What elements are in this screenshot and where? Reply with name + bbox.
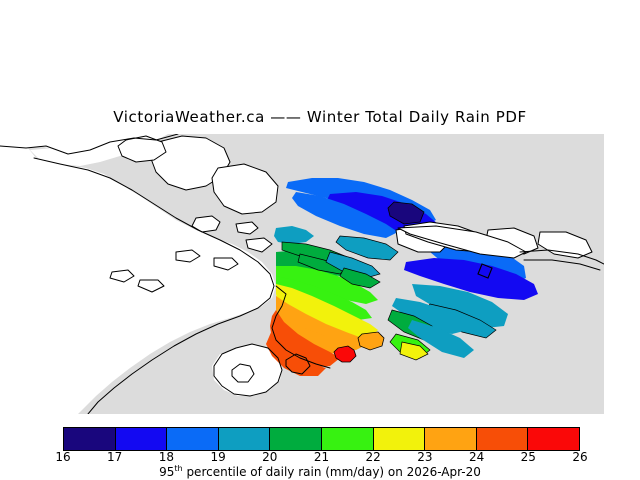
rainfall-contour-map	[0, 134, 604, 414]
colorbar-cell-20-21[interactable]	[270, 428, 322, 450]
colorbar-tick-24: 24	[469, 450, 484, 464]
colorbar-tick-16: 16	[55, 450, 70, 464]
colorbar-cell-25-26[interactable]	[528, 428, 579, 450]
page-title: VictoriaWeather.ca —— Winter Total Daily…	[0, 108, 640, 126]
map-panel	[0, 134, 604, 414]
colorbar-tick-19: 19	[210, 450, 225, 464]
colorbar-tick-18: 18	[159, 450, 174, 464]
colorbar-cell-21-22[interactable]	[322, 428, 374, 450]
colorbar-tick-17: 17	[107, 450, 122, 464]
colorbar-tick-labels: 1617181920212223242526	[0, 450, 640, 466]
colorbar-cell-23-24[interactable]	[425, 428, 477, 450]
colorbar-area: 1617181920212223242526 95th percentile o…	[0, 420, 640, 480]
colorbar-cell-16-17[interactable]	[64, 428, 116, 450]
colorbar-tick-25: 25	[521, 450, 536, 464]
colorbar-tick-20: 20	[262, 450, 277, 464]
colorbar-cell-19-20[interactable]	[219, 428, 271, 450]
colorbar-tick-23: 23	[417, 450, 432, 464]
colorbar-cell-22-23[interactable]	[374, 428, 426, 450]
colorbar-cell-24-25[interactable]	[477, 428, 529, 450]
colorbar-caption: 95th percentile of daily rain (mm/day) o…	[0, 465, 640, 479]
caption-superscript: th	[174, 464, 182, 473]
colorbar[interactable]	[63, 427, 580, 451]
colorbar-cell-18-19[interactable]	[167, 428, 219, 450]
colorbar-tick-21: 21	[314, 450, 329, 464]
colorbar-tick-26: 26	[572, 450, 587, 464]
colorbar-cell-17-18[interactable]	[116, 428, 168, 450]
colorbar-tick-22: 22	[366, 450, 381, 464]
